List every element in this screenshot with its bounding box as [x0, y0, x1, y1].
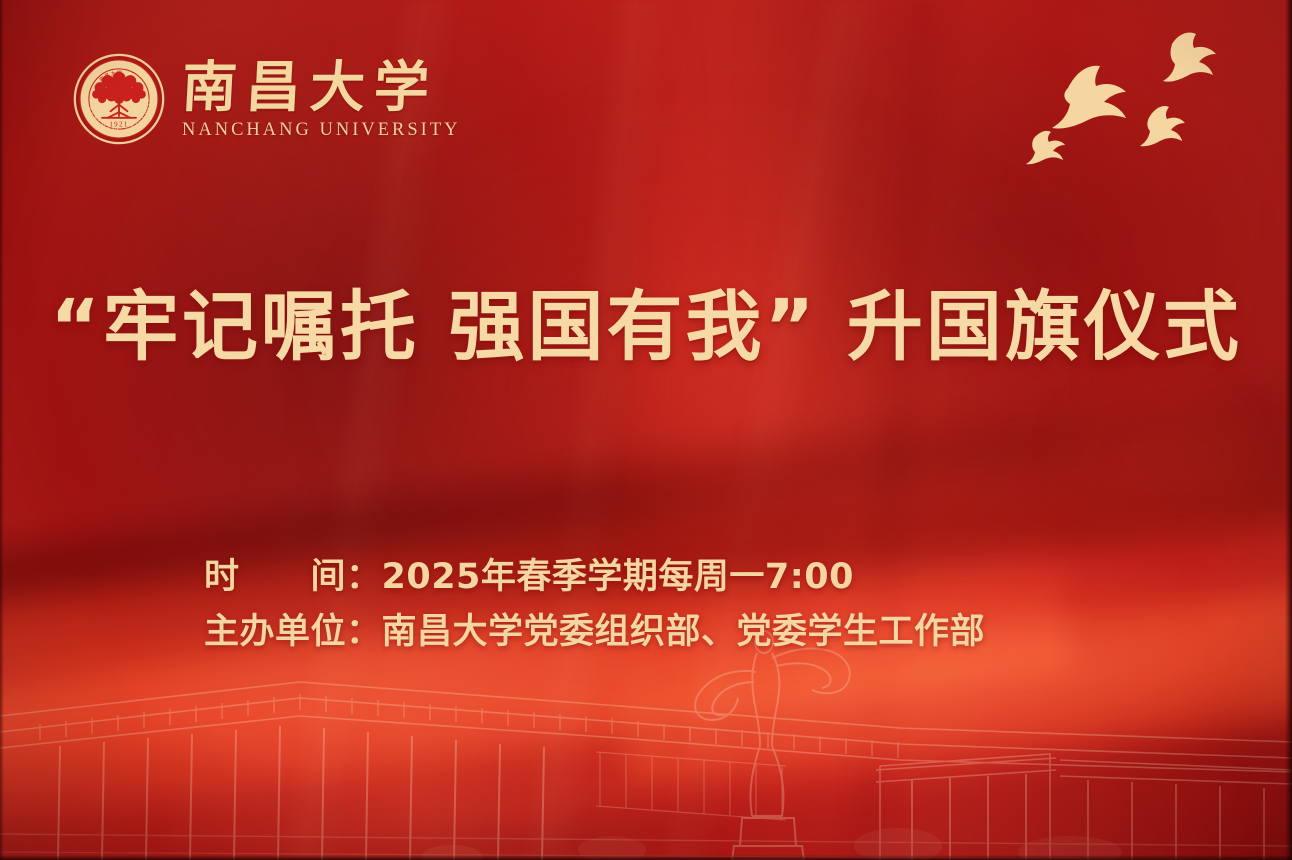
event-poster: 1921 NANCHANG UNIVERSITY 南昌大学 南昌大学 NANCH…: [0, 0, 1292, 860]
university-name-en: NANCHANG UNIVERSITY: [182, 120, 460, 141]
university-name-block: 南昌大学 NANCHANG UNIVERSITY: [182, 57, 460, 141]
nanchang-university-seal-icon: 1921 NANCHANG UNIVERSITY 南昌大学: [72, 52, 166, 146]
poster-edge-bottom: [0, 855, 1292, 860]
poster-edge-right: [1285, 0, 1292, 860]
poster-edge-left: [0, 0, 4, 860]
event-organizer-line: 主办单位：南昌大学党委组织部、党委学生工作部: [204, 605, 985, 660]
event-info-block: 时 间：2025年春季学期每周一7:00 主办单位：南昌大学党委组织部、党委学生…: [204, 550, 985, 661]
event-time-line: 时 间：2025年春季学期每周一7:00: [204, 550, 985, 605]
university-name-cn: 南昌大学: [181, 59, 462, 115]
page-title: “牢记嘱托 强国有我” 升国旗仪式: [0, 286, 1292, 368]
university-logo: 1921 NANCHANG UNIVERSITY 南昌大学 南昌大学 NANCH…: [72, 52, 460, 146]
